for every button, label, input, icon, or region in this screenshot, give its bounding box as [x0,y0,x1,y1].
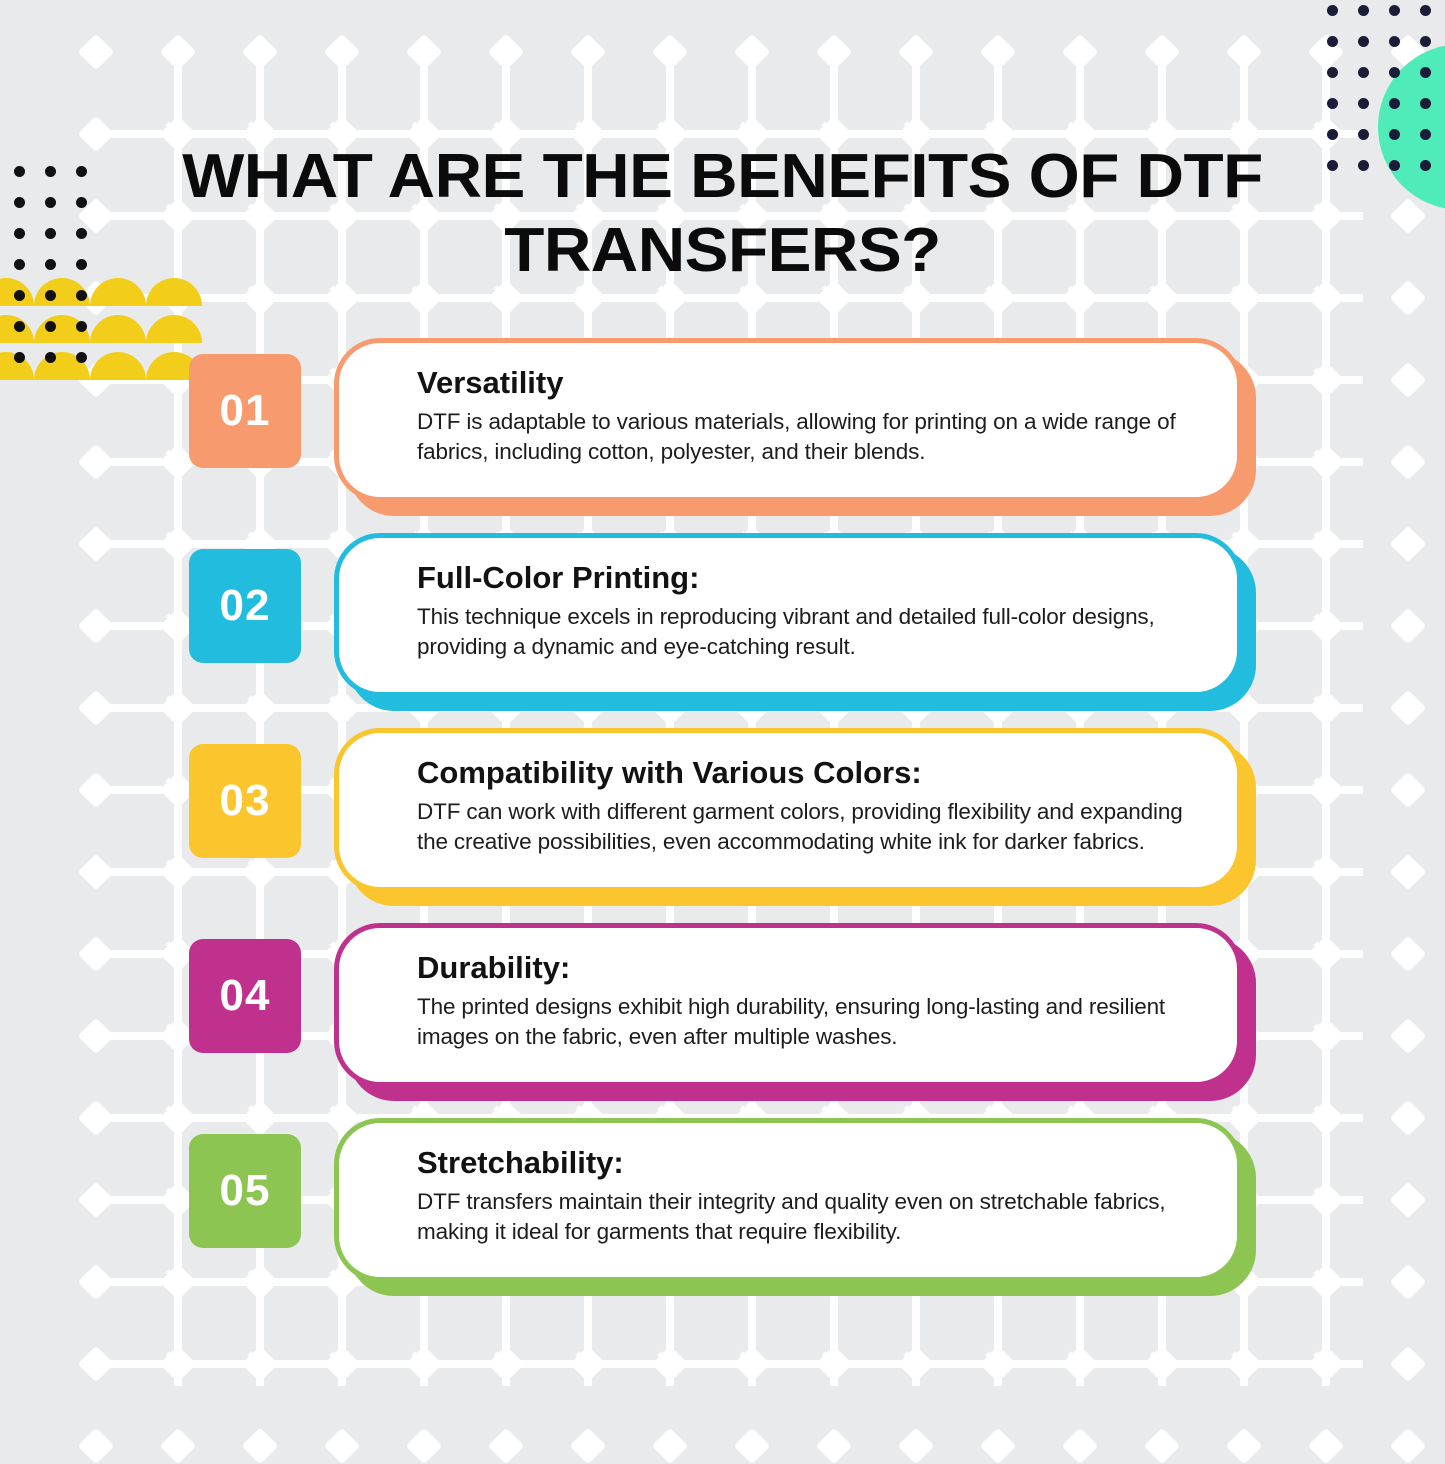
decorative-dot [1327,160,1338,171]
benefit-item: 03Compatibility with Various Colors:DTF … [0,728,1445,923]
grid-diamond [980,1428,1017,1464]
grid-diamond [78,1428,115,1464]
benefit-body-text: DTF transfers maintain their integrity a… [417,1187,1207,1247]
grid-diamond [1062,1428,1099,1464]
benefit-card: Durability:The printed designs exhibit h… [334,923,1242,1087]
grid-diamond [652,1428,689,1464]
grid-diamond [1226,1346,1263,1383]
grid-diamond [78,34,115,71]
grid-diamond [898,1346,935,1383]
grid-diamond [734,1346,771,1383]
decorative-dot [14,228,25,239]
benefit-number-badge: 04 [189,939,301,1053]
page-title-line-2: TRANSFERS? [121,214,1324,288]
benefit-item: 05Stretchability:DTF transfers maintain … [0,1118,1445,1313]
teal-circle-decoration [1378,44,1445,210]
grid-diamond [488,1346,525,1383]
decorative-dot [76,259,87,270]
grid-diamond [78,198,115,235]
benefit-card-content: Compatibility with Various Colors:DTF ca… [339,733,1237,857]
grid-diamond [160,1346,197,1383]
grid-diamond [1390,198,1427,235]
benefit-card-content: Durability:The printed designs exhibit h… [339,928,1237,1052]
grid-diamond [78,1346,115,1383]
grid-diamond [980,34,1017,71]
grid-diamond [570,1428,607,1464]
grid-diamond [652,34,689,71]
decorative-dot [1327,98,1338,109]
benefit-card-content: Full-Color Printing:This technique excel… [339,538,1237,662]
grid-diamond [1390,1346,1427,1383]
grid-diamond [160,1428,197,1464]
decorative-dot [1389,36,1400,47]
benefit-body-text: The printed designs exhibit high durabil… [417,992,1207,1052]
benefit-card-wrapper: VersatilityDTF is adaptable to various m… [334,338,1256,516]
decorative-dot [1327,5,1338,16]
benefit-card: Compatibility with Various Colors:DTF ca… [334,728,1242,892]
benefit-number-label: 03 [220,779,271,823]
decorative-dot [45,228,56,239]
decorative-dot [1420,5,1431,16]
benefit-body-text: DTF can work with different garment colo… [417,797,1207,857]
grid-diamond [1062,1346,1099,1383]
grid-diamond [898,34,935,71]
decorative-dot [14,197,25,208]
decorative-dot [1358,67,1369,78]
grid-diamond [1226,34,1263,71]
grid-diamond [734,1428,771,1464]
decorative-dot [1327,67,1338,78]
grid-diamond [324,1428,361,1464]
benefit-card: Stretchability:DTF transfers maintain th… [334,1118,1242,1282]
grid-diamond [1308,1346,1345,1383]
page-title: WHAT ARE THE BENEFITS OF DTF TRANSFERS? [155,140,1290,288]
benefit-heading: Durability: [417,950,1207,986]
decorative-dot [1358,36,1369,47]
grid-diamond [1144,1428,1181,1464]
decorative-dot [1358,5,1369,16]
benefit-item: 01VersatilityDTF is adaptable to various… [0,338,1445,533]
benefit-card: VersatilityDTF is adaptable to various m… [334,338,1242,502]
decorative-dot [45,166,56,177]
grid-diamond [816,1346,853,1383]
benefit-heading: Compatibility with Various Colors: [417,755,1207,791]
grid-diamond [898,1428,935,1464]
decorative-dot [1389,5,1400,16]
grid-diamond [406,1346,443,1383]
grid-diamond [816,1428,853,1464]
grid-diamond [242,34,279,71]
grid-diamond [324,1346,361,1383]
benefit-body-text: DTF is adaptable to various materials, a… [417,407,1207,467]
decorative-dot [76,166,87,177]
grid-diamond [1308,1428,1345,1464]
grid-diamond [816,34,853,71]
benefit-card-wrapper: Durability:The printed designs exhibit h… [334,923,1256,1101]
benefit-number-badge: 01 [189,354,301,468]
grid-diamond [652,1346,689,1383]
benefit-number-label: 04 [220,974,271,1018]
benefit-number-badge: 05 [189,1134,301,1248]
grid-diamond [1390,280,1427,317]
decorative-dot [76,197,87,208]
benefit-number-badge: 03 [189,744,301,858]
grid-diamond [570,1346,607,1383]
grid-diamond [160,34,197,71]
benefit-number-label: 02 [220,584,271,628]
grid-diamond [242,1428,279,1464]
benefit-card-wrapper: Full-Color Printing:This technique excel… [334,533,1256,711]
decorative-dot [14,166,25,177]
benefit-item: 04Durability:The printed designs exhibit… [0,923,1445,1118]
decorative-dot [1327,36,1338,47]
grid-diamond [734,34,771,71]
benefit-item: 02Full-Color Printing:This technique exc… [0,533,1445,728]
benefit-card-wrapper: Compatibility with Various Colors:DTF ca… [334,728,1256,906]
grid-diamond [488,34,525,71]
decorative-dot [1358,160,1369,171]
page-title-line-1: WHAT ARE THE BENEFITS OF DTF [121,140,1324,214]
benefit-number-label: 05 [220,1169,271,1213]
benefit-body-text: This technique excels in reproducing vib… [417,602,1207,662]
grid-diamond [1144,34,1181,71]
decorative-dot [45,197,56,208]
grid-diamond [980,1346,1017,1383]
grid-diamond [406,34,443,71]
benefit-number-label: 01 [220,389,271,433]
decorative-dot [1358,98,1369,109]
decorative-arch [0,278,34,306]
decorative-dot [1327,129,1338,140]
grid-diamond [1144,1346,1181,1383]
grid-diamond [1062,34,1099,71]
benefit-card: Full-Color Printing:This technique excel… [334,533,1242,697]
decorative-arch [34,278,90,306]
benefits-list: 01VersatilityDTF is adaptable to various… [0,338,1445,1313]
grid-diamond [78,116,115,153]
decorative-dot [1420,36,1431,47]
benefit-card-content: Stretchability:DTF transfers maintain th… [339,1123,1237,1247]
benefit-heading: Full-Color Printing: [417,560,1207,596]
decorative-dot [14,259,25,270]
grid-diamond [1308,34,1345,71]
grid-diamond [406,1428,443,1464]
grid-diamond [1390,1428,1427,1464]
grid-diamond [324,34,361,71]
benefit-heading: Stretchability: [417,1145,1207,1181]
grid-diamond [242,1346,279,1383]
decorative-dot [76,228,87,239]
decorative-dot [45,259,56,270]
grid-diamond [570,34,607,71]
grid-diamond [488,1428,525,1464]
benefit-number-badge: 02 [189,549,301,663]
benefit-heading: Versatility [417,365,1207,401]
benefit-card-wrapper: Stretchability:DTF transfers maintain th… [334,1118,1256,1296]
decorative-dot [1358,129,1369,140]
benefit-card-content: VersatilityDTF is adaptable to various m… [339,343,1237,467]
grid-diamond [1226,1428,1263,1464]
